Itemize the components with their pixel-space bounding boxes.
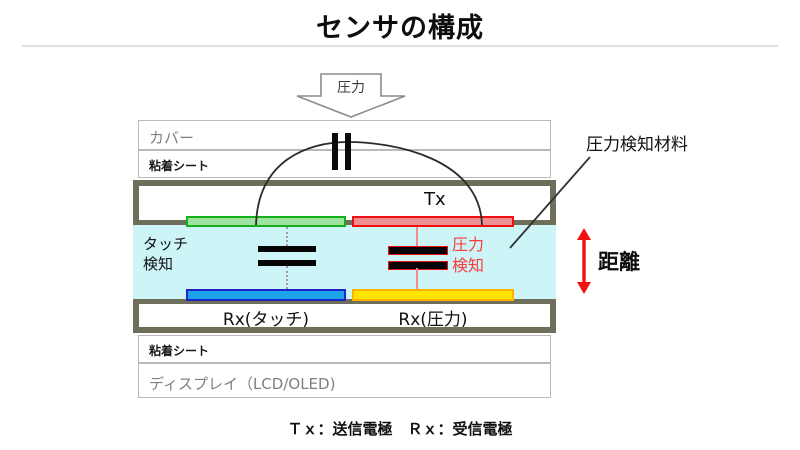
page-title: センサの構成	[0, 6, 800, 45]
pressure-capacitor-wire-bottom	[416, 268, 418, 289]
pressure-arrow-label: 圧力	[292, 77, 410, 97]
touch-detect-label: タッチ 検知	[143, 234, 213, 274]
material-annotation-label: 圧力検知材料	[586, 130, 688, 155]
distance-label: 距離	[598, 246, 640, 276]
touch-capacitor-plate-top	[258, 246, 316, 252]
electrode-rx-pressure	[352, 289, 514, 301]
touch-capacitor-wire-top	[286, 227, 288, 246]
tx-label: Tx	[424, 189, 446, 210]
layer-display: ディスプレイ（LCD/OLED)	[138, 363, 551, 398]
pressure-capacitor-plate-top	[388, 246, 448, 255]
pressure-capacitor-plate-bottom	[388, 261, 448, 270]
touch-detect-line2: 検知	[143, 254, 213, 274]
layer-adhesive-bottom-label: 粘着シート	[149, 342, 209, 359]
title-divider	[22, 45, 778, 47]
distance-double-arrow-icon	[574, 228, 594, 294]
pressure-arrow: 圧力	[292, 72, 410, 120]
touch-detect-line1: タッチ	[143, 234, 213, 254]
rx-pressure-label: Rx(圧力)	[352, 305, 514, 330]
rx-touch-label: Rx(タッチ)	[186, 305, 346, 330]
layer-adhesive-top-label: 粘着シート	[149, 157, 209, 174]
legend-caption: Ｔｘ：送信電極 Ｒｘ：受信電極	[0, 418, 800, 439]
layer-adhesive-bottom: 粘着シート	[138, 335, 551, 363]
pressure-capacitor-wire-top	[416, 227, 418, 246]
layer-display-label: ディスプレイ（LCD/OLED)	[149, 373, 335, 394]
pressure-detect-line2: 検知	[452, 255, 532, 276]
layer-cover-label: カバー	[149, 127, 194, 148]
field-line-arc	[248, 140, 488, 225]
slide-canvas: センサの構成 圧力 カバー 粘着シート 粘着シート ディスプレイ（LCD/OLE…	[0, 0, 800, 450]
touch-capacitor-wire-bottom	[286, 266, 288, 289]
top-capacitor-plate-right	[345, 133, 351, 170]
electrode-rx-touch	[186, 289, 346, 301]
top-capacitor-plate-left	[332, 133, 338, 170]
